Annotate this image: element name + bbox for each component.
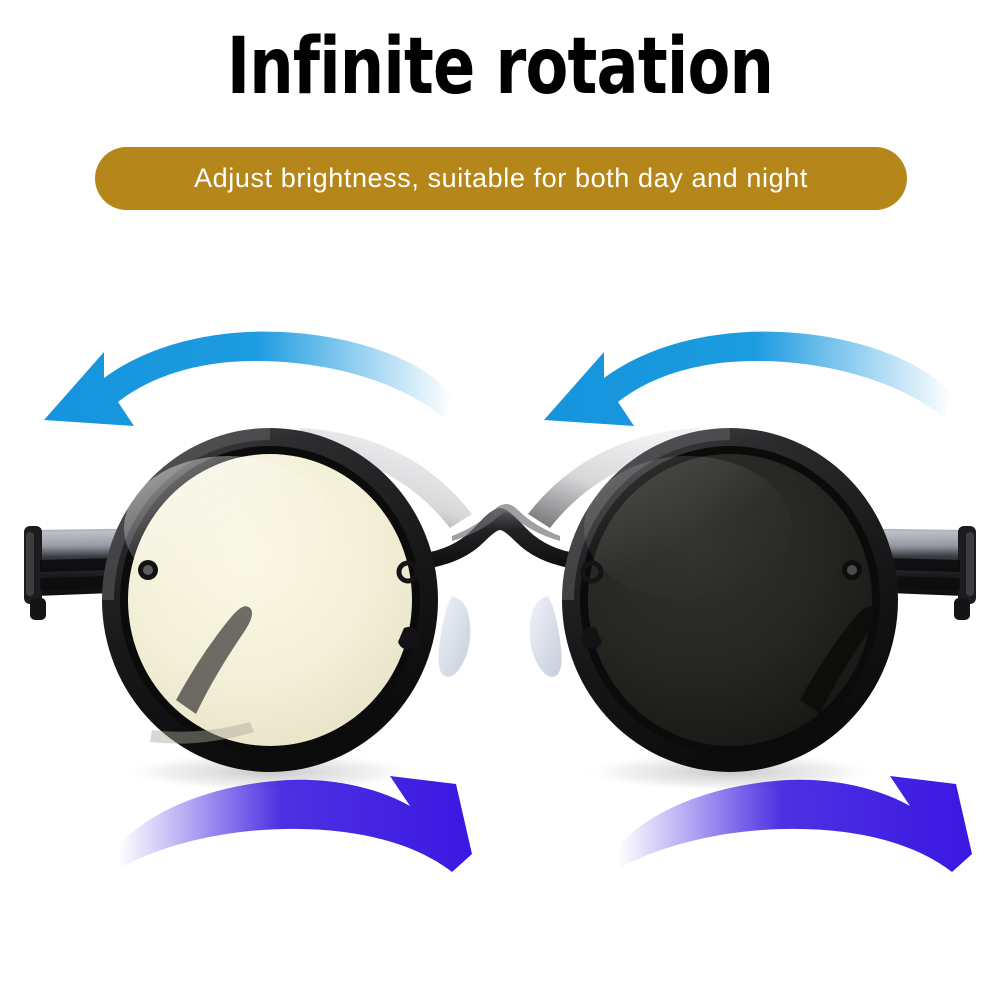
page-title: Infinite rotation	[100, 26, 900, 108]
nose-pad-right	[530, 596, 562, 677]
right-lens-assembly	[528, 428, 898, 772]
nose-pad-left	[438, 596, 470, 677]
subtitle-text: Adjust brightness, suitable for both day…	[194, 163, 808, 194]
left-lens-assembly	[102, 428, 472, 772]
round-sunglasses	[0, 400, 1000, 820]
product-feature-image: Infinite rotation Adjust brightness, sui…	[0, 0, 1000, 1000]
subtitle-banner: Adjust brightness, suitable for both day…	[95, 147, 907, 210]
